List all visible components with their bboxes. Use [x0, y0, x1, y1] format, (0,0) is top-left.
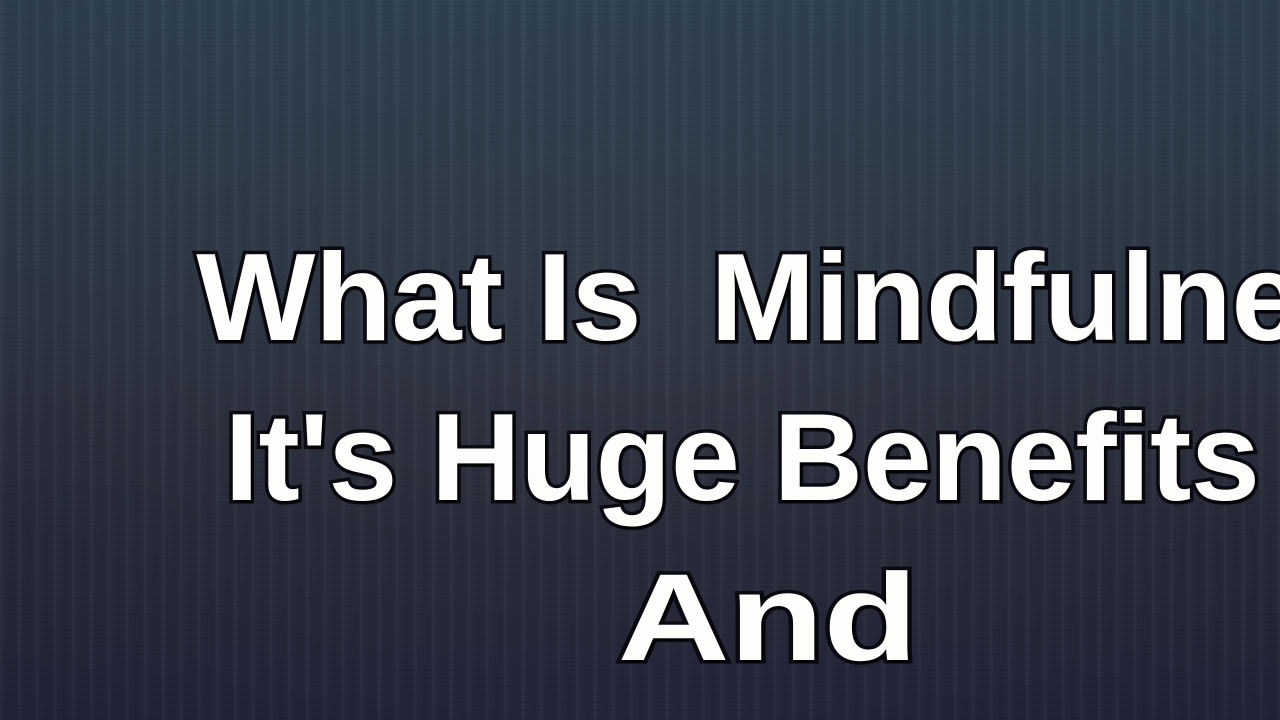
title-card-canvas: What Is Mindfulness It's Huge Benefits A…	[0, 0, 1280, 720]
title-text-block: What Is Mindfulness It's Huge Benefits A…	[0, 0, 1280, 720]
title-line-4: How To Practice It ?	[0, 538, 1280, 698]
title-line-3: And	[0, 378, 1280, 538]
title-line-1: What Is Mindfulness	[0, 58, 1280, 218]
title-line-2: It's Huge Benefits	[0, 218, 1280, 378]
title-line-4-text: How To Practice It ?	[198, 698, 1280, 720]
